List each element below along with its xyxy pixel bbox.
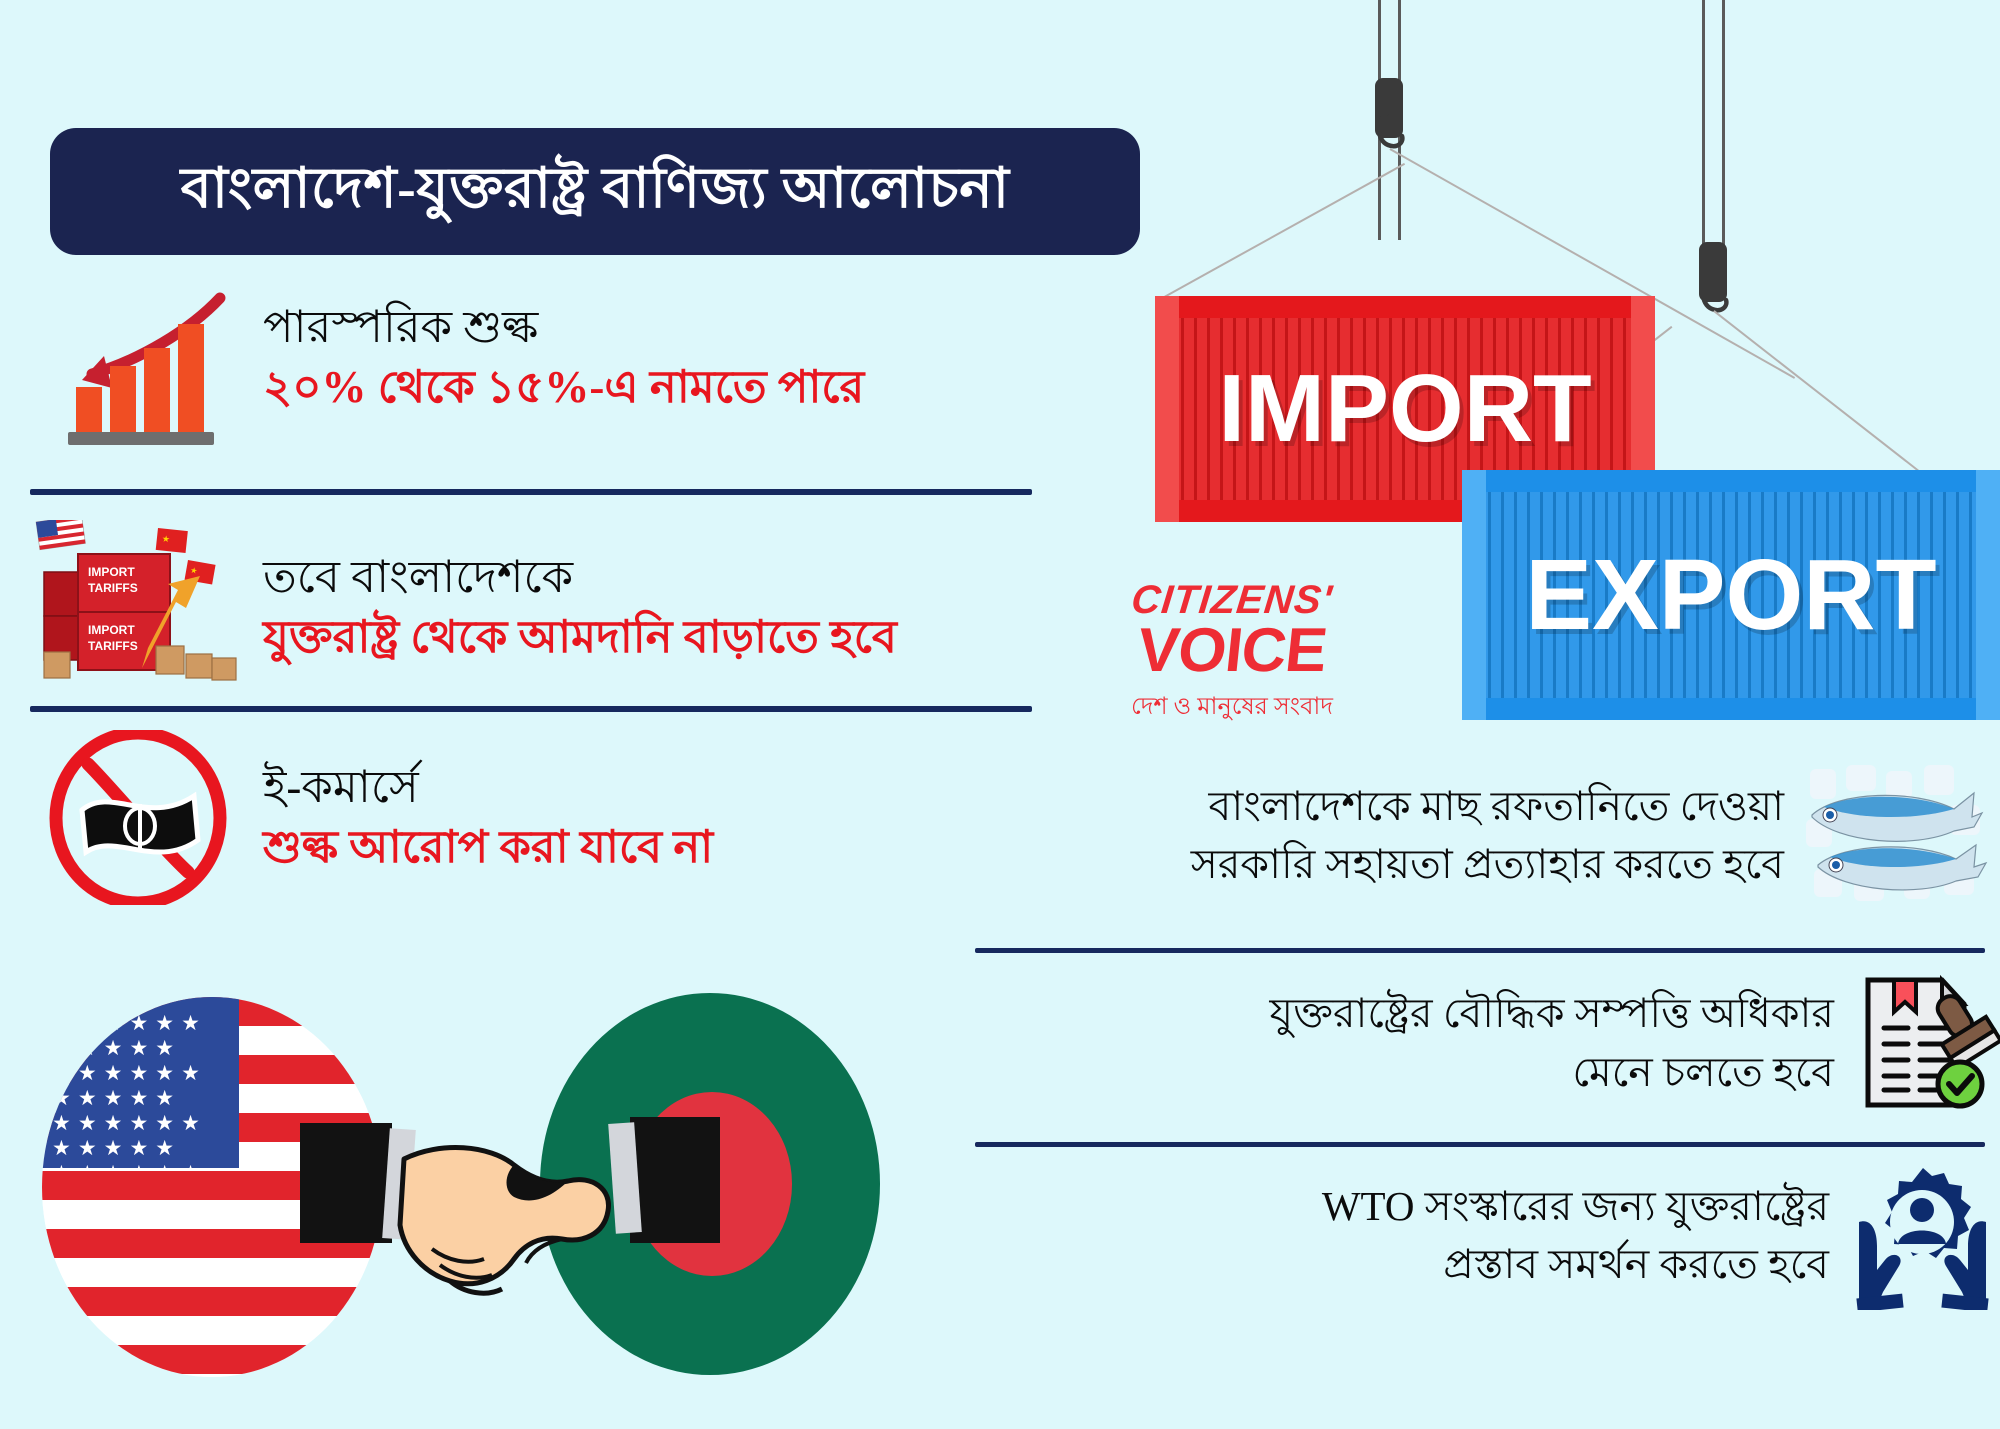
left-point-1-line2: ২০% থেকে ১৫%-এ নামতে পারে bbox=[263, 360, 864, 414]
left-point-1-text: পারস্পরিক শুল্ক ২০% থেকে ১৫%-এ নামতে পার… bbox=[245, 301, 864, 413]
right-point-1-line1: বাংলাদেশকে মাছ রফতানিতে দেওয়া bbox=[1191, 777, 1784, 835]
right-point-2-text: যুক্তরাষ্ট্রের বৌদ্ধিক সম্পত্তি অধিকার ম… bbox=[1270, 984, 1850, 1100]
export-container: EXPORT bbox=[1462, 470, 2000, 720]
left-divider-1 bbox=[30, 489, 1032, 495]
left-point-1: পারস্পরিক শুল্ক ২০% থেকে ১৫%-এ নামতে পার… bbox=[30, 270, 1040, 445]
svg-text:IMPORT: IMPORT bbox=[88, 565, 135, 579]
page-title-bar: বাংলাদেশ-যুক্তরাষ্ট্র বাণিজ্য আলোচনা bbox=[50, 128, 1140, 255]
document-stamp-approved-icon bbox=[1850, 970, 2000, 1115]
right-divider-2 bbox=[975, 1142, 1985, 1147]
logo-tagline: দেশ ও মানুষের সংবাদ bbox=[1082, 688, 1382, 728]
crane-hook-right-icon bbox=[1692, 276, 1752, 346]
right-point-3-line1: WTO সংস্কারের জন্য যুক্তরাষ্ট্রের bbox=[1322, 1177, 1829, 1235]
right-point-1-text: বাংলাদেশকে মাছ রফতানিতে দেওয়া সরকারি সহ… bbox=[1191, 777, 1800, 893]
svg-text:★: ★ bbox=[161, 533, 170, 544]
handshake-flags-graphic: ★★★★★★★★★★★★★★★★★★★★★★★★★★★★★★★★★★★★★★★ bbox=[20, 985, 960, 1415]
infographic-canvas: IMPORT EXPORT বাংলাদেশ-যুক্তরাষ্ট্র বাণি… bbox=[0, 0, 2000, 1429]
logo-word-voice: VOICE bbox=[1078, 615, 1385, 686]
right-point-3: WTO সংস্কারের জন্য যুক্তরাষ্ট্রের প্রস্ত… bbox=[975, 1160, 2000, 1310]
gear-in-hands-icon bbox=[1845, 1160, 2000, 1310]
right-point-3-line2: প্রস্তাব সমর্থন করতে হবে bbox=[1322, 1235, 1829, 1293]
fish-on-ice-icon bbox=[1800, 765, 2000, 905]
left-point-2-line2: যুক্তরাষ্ট্র থেকে আমদানি বাড়াতে হবে bbox=[263, 610, 897, 664]
left-point-3-line2: শুল্ক আরোপ করা যাবে না bbox=[263, 820, 713, 874]
left-point-3-text: ই-কমার্সে শুল্ক আরোপ করা যাবে না bbox=[245, 761, 713, 873]
right-point-3-text: WTO সংস্কারের জন্য যুক্তরাষ্ট্রের প্রস্ত… bbox=[1322, 1177, 1845, 1293]
right-point-2-line2: মেনে চলতে হবে bbox=[1270, 1043, 1834, 1101]
right-point-1-line2: সরকারি সহায়তা প্রত্যাহার করতে হবে bbox=[1191, 835, 1784, 893]
left-point-2-line1: তবে বাংলাদেশকে bbox=[263, 551, 897, 603]
left-point-3: ই-কমার্সে শুল্ক আরোপ করা যাবে না bbox=[30, 730, 1040, 905]
right-point-2-line1: যুক্তরাষ্ট্রের বৌদ্ধিক সম্পত্তি অধিকার bbox=[1270, 984, 1834, 1042]
left-divider-2 bbox=[30, 706, 1032, 712]
left-point-1-line1: পারস্পরিক শুল্ক bbox=[263, 301, 864, 353]
svg-text:TARIFFS: TARIFFS bbox=[88, 581, 138, 595]
growth-bar-chart-icon bbox=[30, 270, 245, 445]
import-tariffs-containers-icon: ★ ★ IMPORT TARIFFS IMPORT TARIFFS bbox=[30, 520, 245, 695]
export-container-label: EXPORT bbox=[1462, 470, 2000, 720]
citizens-voice-logo: CITIZENS' VOICE দেশ ও মানুষের সংবাদ bbox=[1082, 578, 1382, 728]
right-point-2: যুক্তরাষ্ট্রের বৌদ্ধিক সম্পত্তি অধিকার ম… bbox=[975, 970, 2000, 1115]
right-point-1: বাংলাদেশকে মাছ রফতানিতে দেওয়া সরকারি সহ… bbox=[975, 765, 2000, 905]
right-divider-1 bbox=[975, 948, 1985, 953]
left-point-3-line1: ই-কমার্সে bbox=[263, 761, 713, 813]
page-title: বাংলাদেশ-যুক্তরাষ্ট্র বাণিজ্য আলোচনা bbox=[181, 145, 1010, 239]
handshake-icon bbox=[300, 1093, 720, 1423]
left-point-2-text: তবে বাংলাদেশকে যুক্তরাষ্ট্র থেকে আমদানি … bbox=[245, 551, 897, 663]
no-money-tax-icon bbox=[30, 730, 245, 905]
svg-text:TARIFFS: TARIFFS bbox=[88, 639, 138, 653]
svg-text:IMPORT: IMPORT bbox=[88, 623, 135, 637]
left-point-2: ★ ★ IMPORT TARIFFS IMPORT TARIFFS bbox=[30, 520, 1040, 695]
crane-hook-left-icon bbox=[1368, 112, 1428, 182]
